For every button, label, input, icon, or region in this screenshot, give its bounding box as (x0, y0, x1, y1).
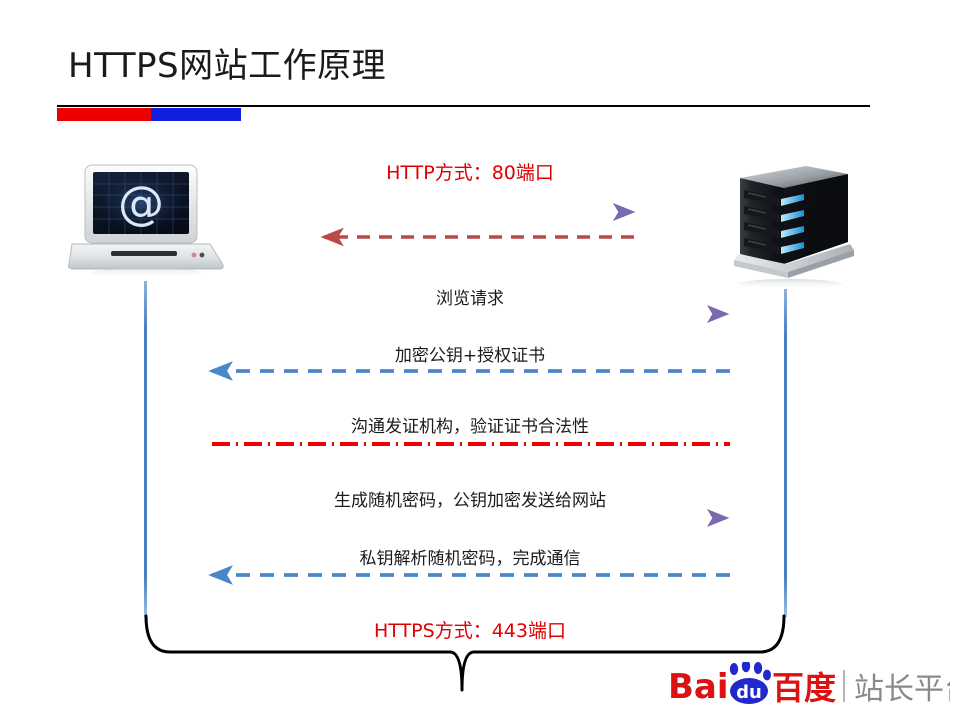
slide-canvas: HTTPS网站工作原理 (0, 0, 958, 714)
baidu-paw-icon (730, 662, 771, 680)
baidu-zhanzhang-logo: Bai du 百度 站长平台 (668, 662, 950, 708)
https-step-5-label: 私钥解析随机密码，完成通信 (250, 544, 690, 569)
https-step-1-label: 浏览请求 (280, 284, 660, 309)
baidu-bai-text: Bai (668, 667, 729, 707)
https-step-2-label: 加密公钥+授权证书 (280, 341, 660, 366)
https-step-3-label: 沟通发证机构，验证证书合法性 (240, 412, 700, 437)
baidu-du-text: du (736, 682, 762, 703)
https-section-label: HTTPS方式：443端口 (280, 616, 660, 643)
baidu-cn-text: 百度 (772, 669, 836, 707)
https-step-4-label: 生成随机密码，公钥加密发送给网站 (230, 486, 710, 511)
baidu-logo-icon: Bai du 百度 站长平台 (668, 662, 950, 708)
platform-text: 站长平台 (854, 672, 950, 707)
http-section-label: HTTP方式：80端口 (280, 158, 660, 185)
